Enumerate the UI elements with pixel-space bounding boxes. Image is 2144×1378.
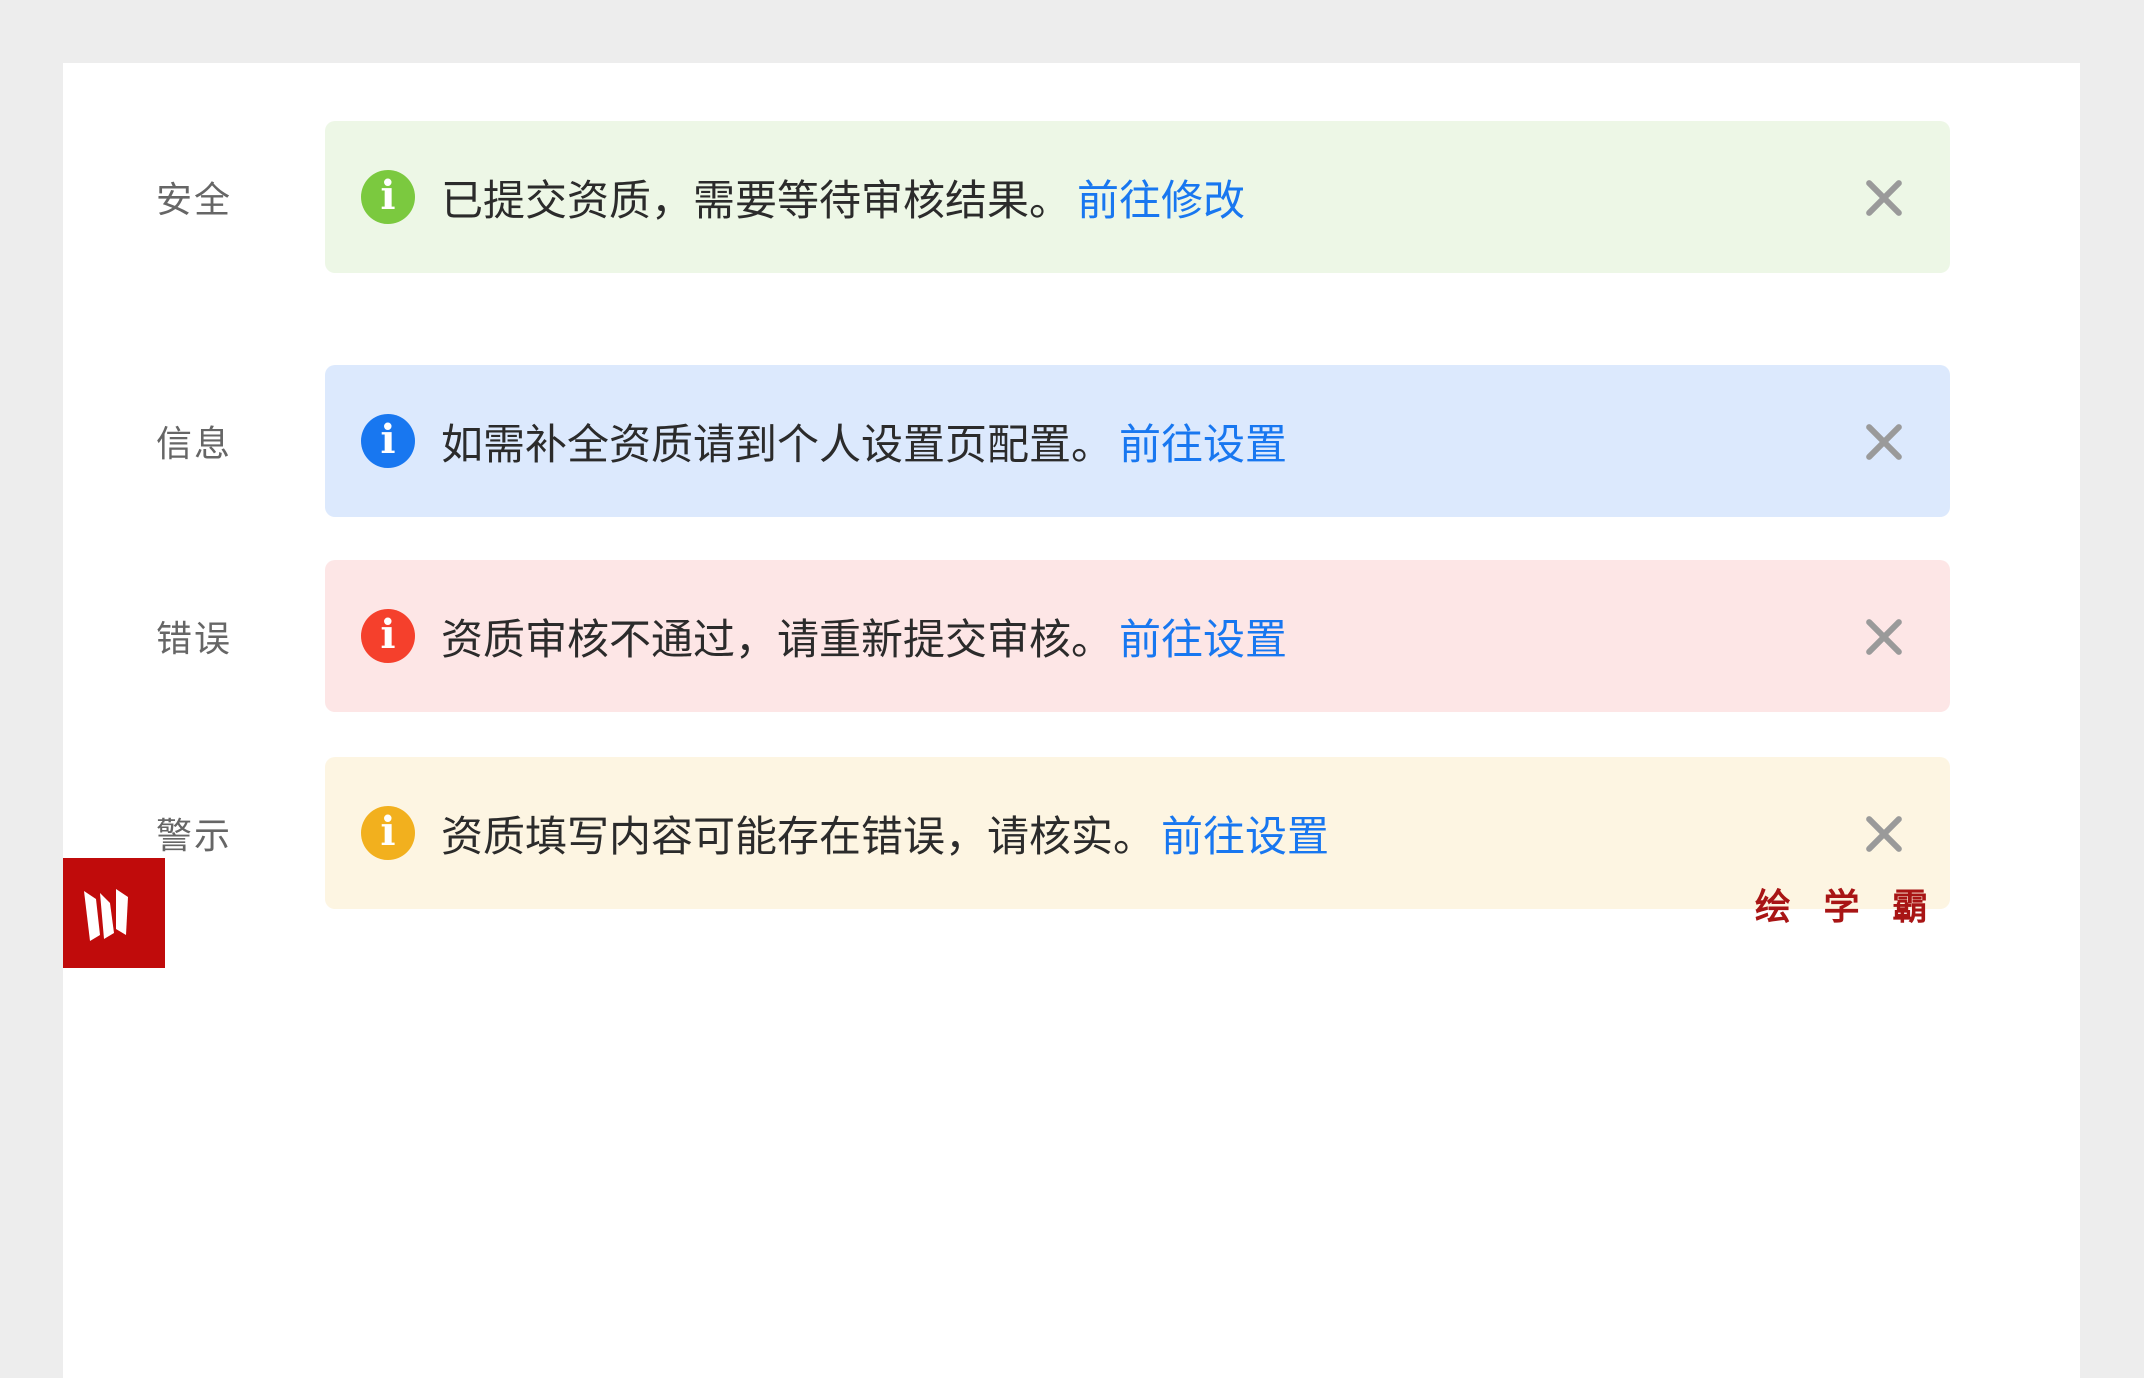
info-circle-icon: i bbox=[361, 414, 415, 468]
alert-bar-error: i 资质审核不通过，请重新提交审核。 前往设置 bbox=[325, 560, 1950, 712]
info-circle-icon: i bbox=[361, 609, 415, 663]
close-icon[interactable] bbox=[1856, 805, 1912, 861]
alert-message-warning: 资质填写内容可能存在错误，请核实。 bbox=[441, 803, 1155, 864]
close-icon[interactable] bbox=[1856, 169, 1912, 225]
alert-bar-info: i 如需补全资质请到个人设置页配置。 前往设置 bbox=[325, 365, 1950, 517]
alert-bar-warning: i 资质填写内容可能存在错误，请核实。 前往设置 bbox=[325, 757, 1950, 909]
alert-action-link-error[interactable]: 前往设置 bbox=[1119, 606, 1287, 667]
alert-showcase-page: 安全 i 已提交资质，需要等待审核结果。 前往修改 信息 i 如需补全资质请到个… bbox=[63, 63, 2080, 1378]
brand-logo-icon bbox=[63, 858, 165, 968]
alert-action-link-warning[interactable]: 前往设置 bbox=[1161, 803, 1329, 864]
alert-message-error: 资质审核不通过，请重新提交审核。 bbox=[441, 606, 1113, 667]
alert-message-info: 如需补全资质请到个人设置页配置。 bbox=[441, 411, 1113, 472]
close-icon[interactable] bbox=[1856, 413, 1912, 469]
alert-bar-success: i 已提交资质，需要等待审核结果。 前往修改 bbox=[325, 121, 1950, 273]
watermark-download-text: 在AppStore或应用宝搜索下载 bbox=[1481, 943, 2080, 1004]
alert-row-error: 错误 i 资质审核不通过，请重新提交审核。 前往设置 bbox=[63, 536, 2080, 736]
info-circle-icon: i bbox=[361, 806, 415, 860]
alert-action-link-success[interactable]: 前往修改 bbox=[1077, 167, 1245, 228]
alert-action-link-info[interactable]: 前往设置 bbox=[1119, 411, 1287, 472]
watermark-brand-text: 绘 学 霸 bbox=[1755, 878, 1938, 930]
close-icon[interactable] bbox=[1856, 608, 1912, 664]
alert-row-label-error: 错误 bbox=[63, 610, 325, 662]
alert-row-label-info: 信息 bbox=[63, 415, 325, 467]
watermark-founded-text: 始创于二零零二年 bbox=[173, 943, 637, 989]
alert-row-info: 信息 i 如需补全资质请到个人设置页配置。 前往设置 bbox=[63, 341, 2080, 541]
alert-message-success: 已提交资质，需要等待审核结果。 bbox=[441, 167, 1071, 228]
alert-row-success: 安全 i 已提交资质，需要等待审核结果。 前往修改 bbox=[63, 97, 2080, 297]
alert-row-label-success: 安全 bbox=[63, 171, 325, 223]
info-circle-icon: i bbox=[361, 170, 415, 224]
alert-row-label-warning: 警示 bbox=[63, 807, 325, 859]
